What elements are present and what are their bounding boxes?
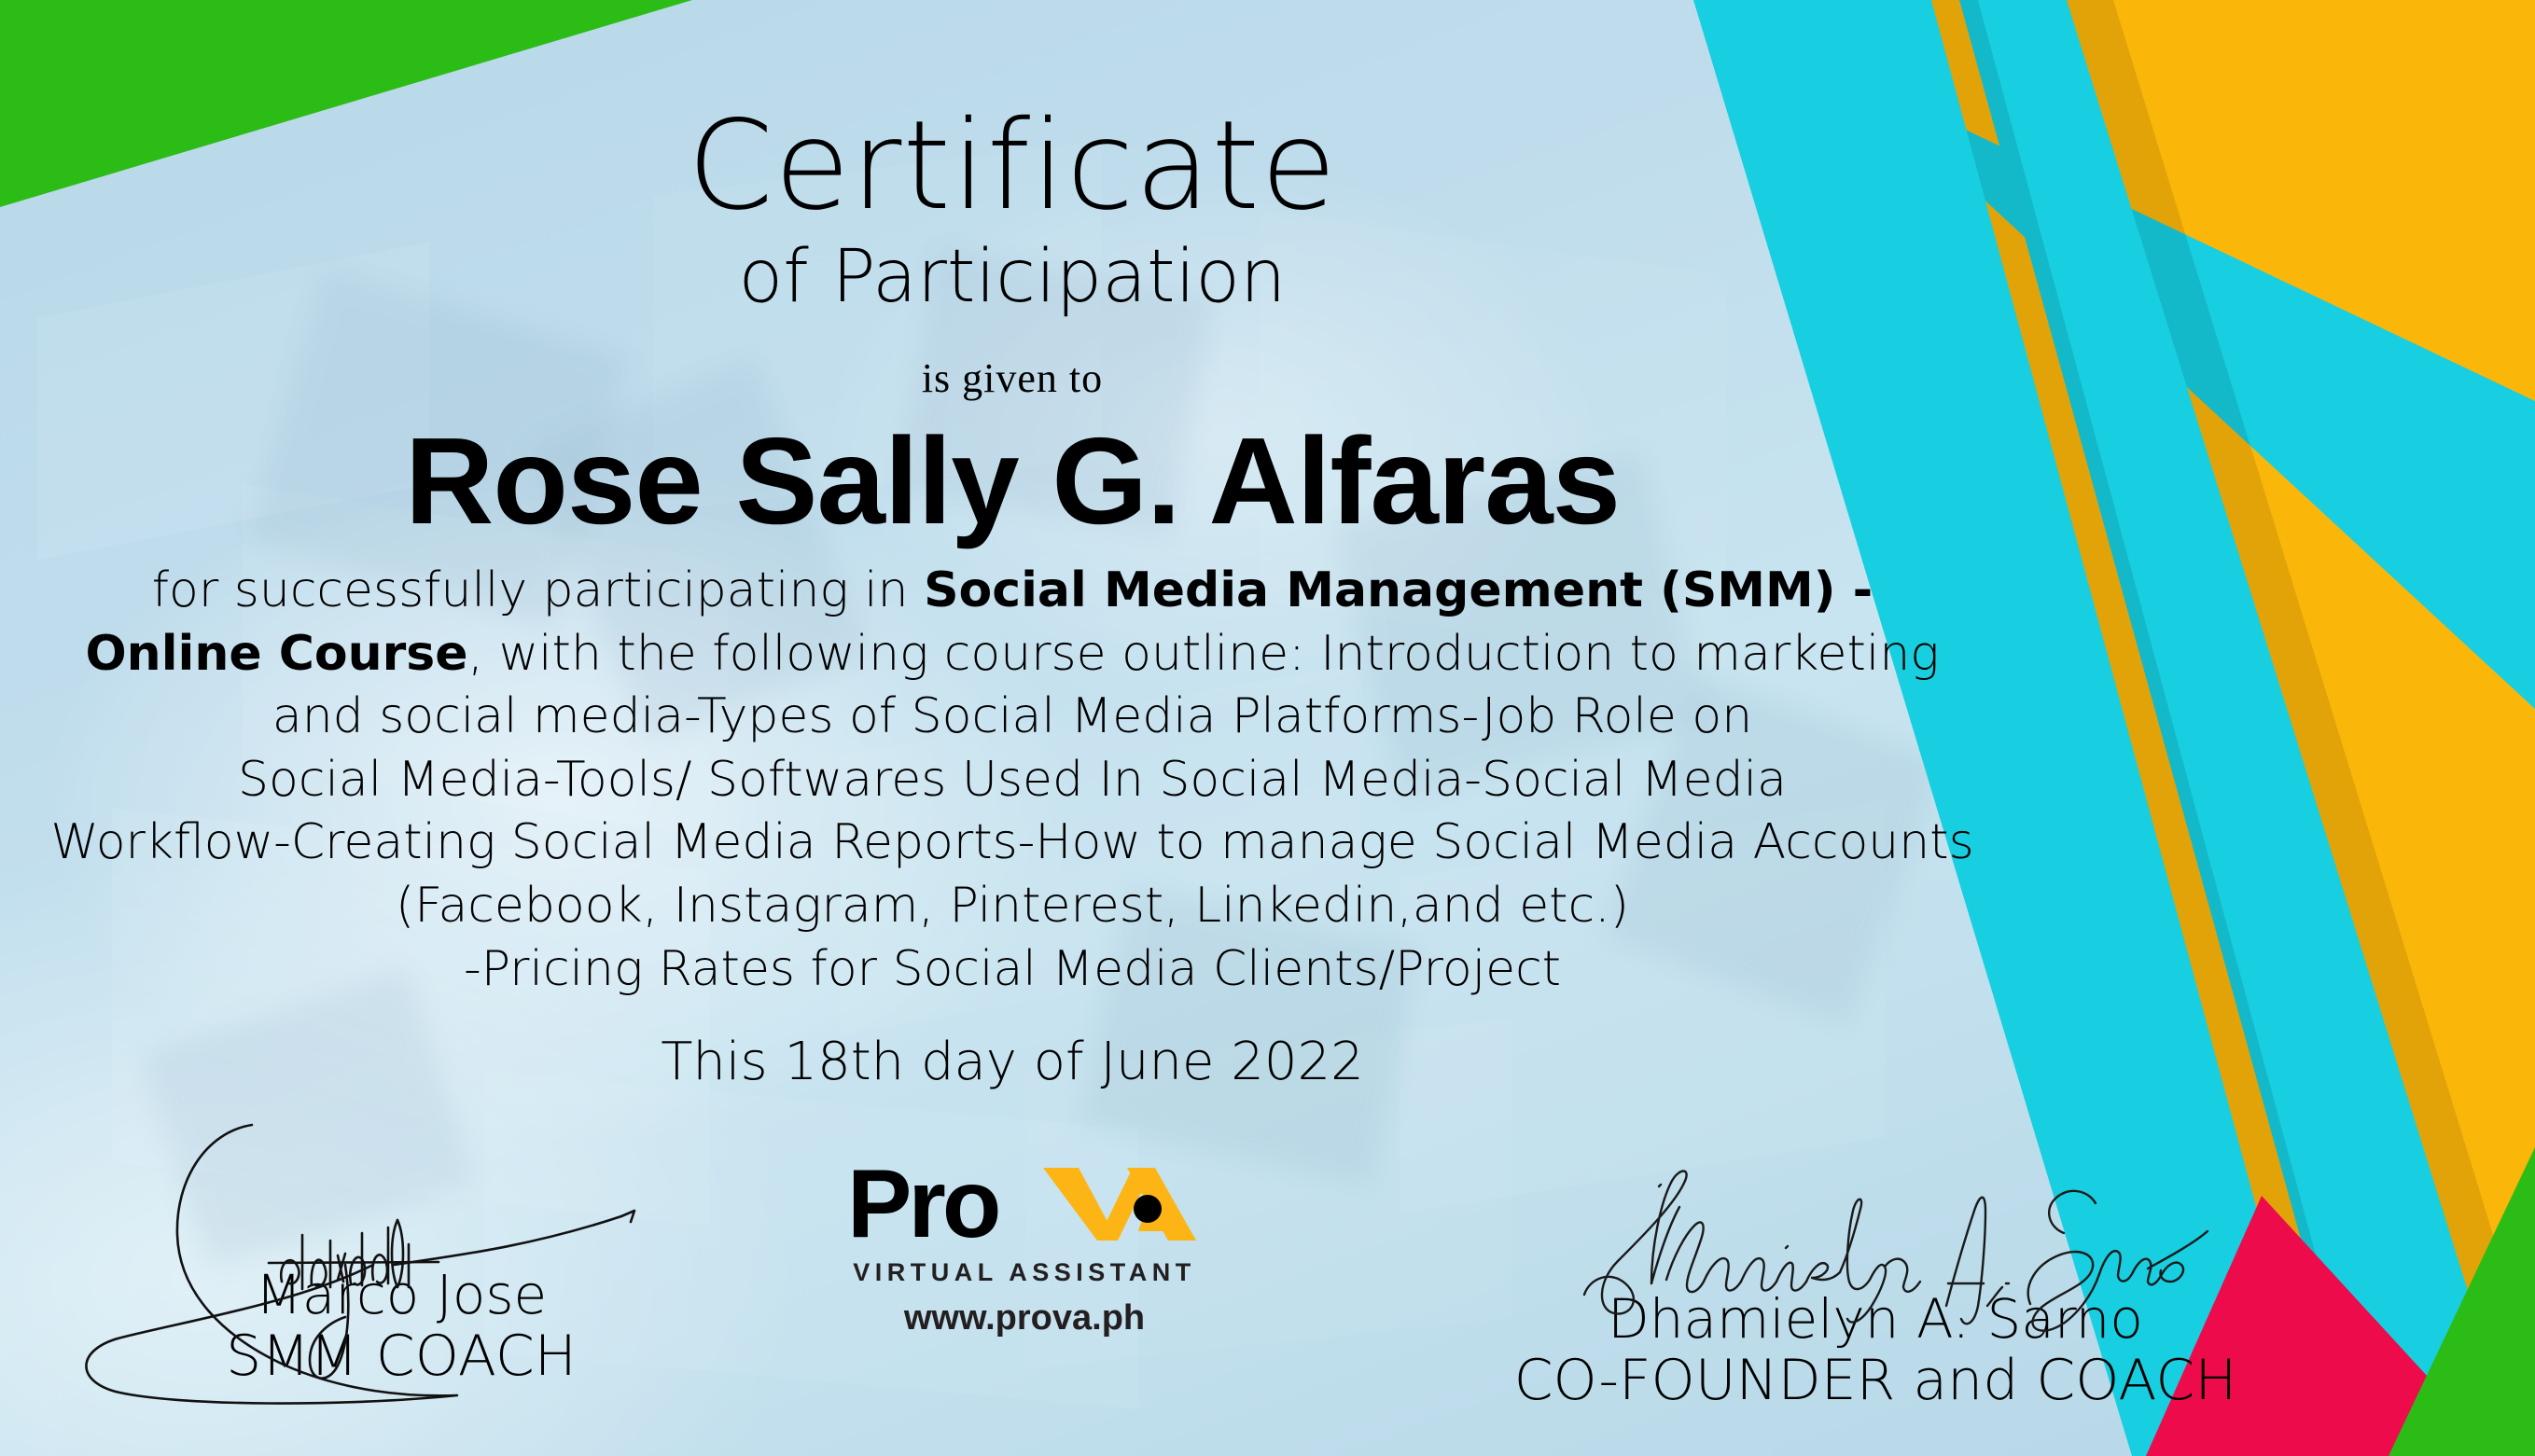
signature-name-right: Dhamielyn A. Sarno (1456, 1289, 2295, 1350)
citation-line-4: Social Media-Tools/ Softwares Used In So… (238, 752, 1787, 808)
citation-line-2: , with the following course outline: Int… (468, 626, 1940, 682)
issue-date: This 18th day of June 2022 (0, 1032, 2025, 1092)
signature-role-right: CO-FOUNDER and COACH (1456, 1350, 2295, 1412)
certificate-page: Certificate of Participation is given to… (0, 0, 2535, 1456)
va-ligature-icon (1043, 1168, 1196, 1241)
prova-logo-url: www.prova.ph (847, 1298, 1202, 1338)
prova-logo-mark: Pro (847, 1160, 1202, 1250)
title-block: Certificate of Participation (0, 104, 2025, 313)
signature-block-left: Marco Jose SMM COACH (93, 1127, 709, 1388)
signature-role-left: SMM COACH (93, 1325, 709, 1388)
certificate-content: Certificate of Participation is given to… (0, 0, 2025, 1456)
signature-name-left: Marco Jose (93, 1265, 709, 1325)
citation-line-7: -Pricing Rates for Social Media Clients/… (464, 941, 1561, 997)
page-title: Certificate (0, 104, 2025, 228)
citation-bold-course-2: Online Course (85, 626, 467, 682)
citation-line-5: Workflow-Creating Social Media Reports-H… (50, 814, 1973, 870)
recipient-name: Rose Sally G. Alfaras (0, 410, 2025, 551)
citation-bold-course-1: Social Media Management (SMM) - (924, 562, 1873, 618)
citation-line-6: (Facebook, Instagram, Pinterest, Linkedi… (396, 878, 1629, 934)
page-subtitle: of Participation (0, 241, 2025, 313)
given-to-label: is given to (0, 354, 2025, 402)
citation-line-3: and social media-Types of Social Media P… (272, 688, 1752, 744)
prova-logo: Pro VIRTUAL ASSISTANT www.prova.ph (847, 1160, 1202, 1338)
citation-line-1: for successfully participating in (152, 562, 924, 618)
signature-block-right: Dhamielyn A. Sarno CO-FOUNDER and COACH (1456, 1173, 2295, 1412)
citation-text: for successfully participating in Social… (37, 560, 1987, 1001)
svg-text:Pro: Pro (847, 1160, 998, 1250)
prova-logo-tagline: VIRTUAL ASSISTANT (847, 1258, 1202, 1287)
